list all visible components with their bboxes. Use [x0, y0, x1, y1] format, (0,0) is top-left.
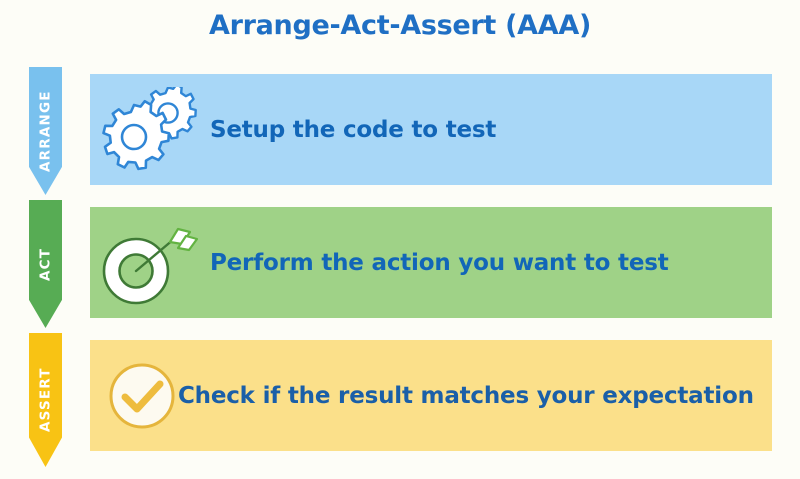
- banner-assert: ASSERT: [29, 333, 62, 467]
- banner-arrange-label: ARRANGE: [29, 67, 62, 195]
- step-text-assert: Check if the result matches your expecta…: [178, 383, 754, 409]
- target-dart-icon: [90, 207, 210, 318]
- step-text-arrange: Setup the code to test: [210, 117, 496, 143]
- gears-icon: [90, 74, 210, 185]
- banner-act-label: ACT: [29, 200, 62, 328]
- banner-act: ACT: [29, 200, 62, 328]
- page-title: Arrange-Act-Assert (AAA): [0, 10, 800, 41]
- step-row-act: Perform the action you want to test: [90, 207, 772, 318]
- aaa-diagram: Arrange-Act-Assert (AAA) ARRANGE Setup t…: [0, 0, 800, 479]
- step-text-act: Perform the action you want to test: [210, 250, 669, 276]
- step-row-assert: Check if the result matches your expecta…: [90, 340, 772, 451]
- banner-arrange: ARRANGE: [29, 67, 62, 195]
- step-row-arrange: Setup the code to test: [90, 74, 772, 185]
- banner-assert-label: ASSERT: [29, 333, 62, 467]
